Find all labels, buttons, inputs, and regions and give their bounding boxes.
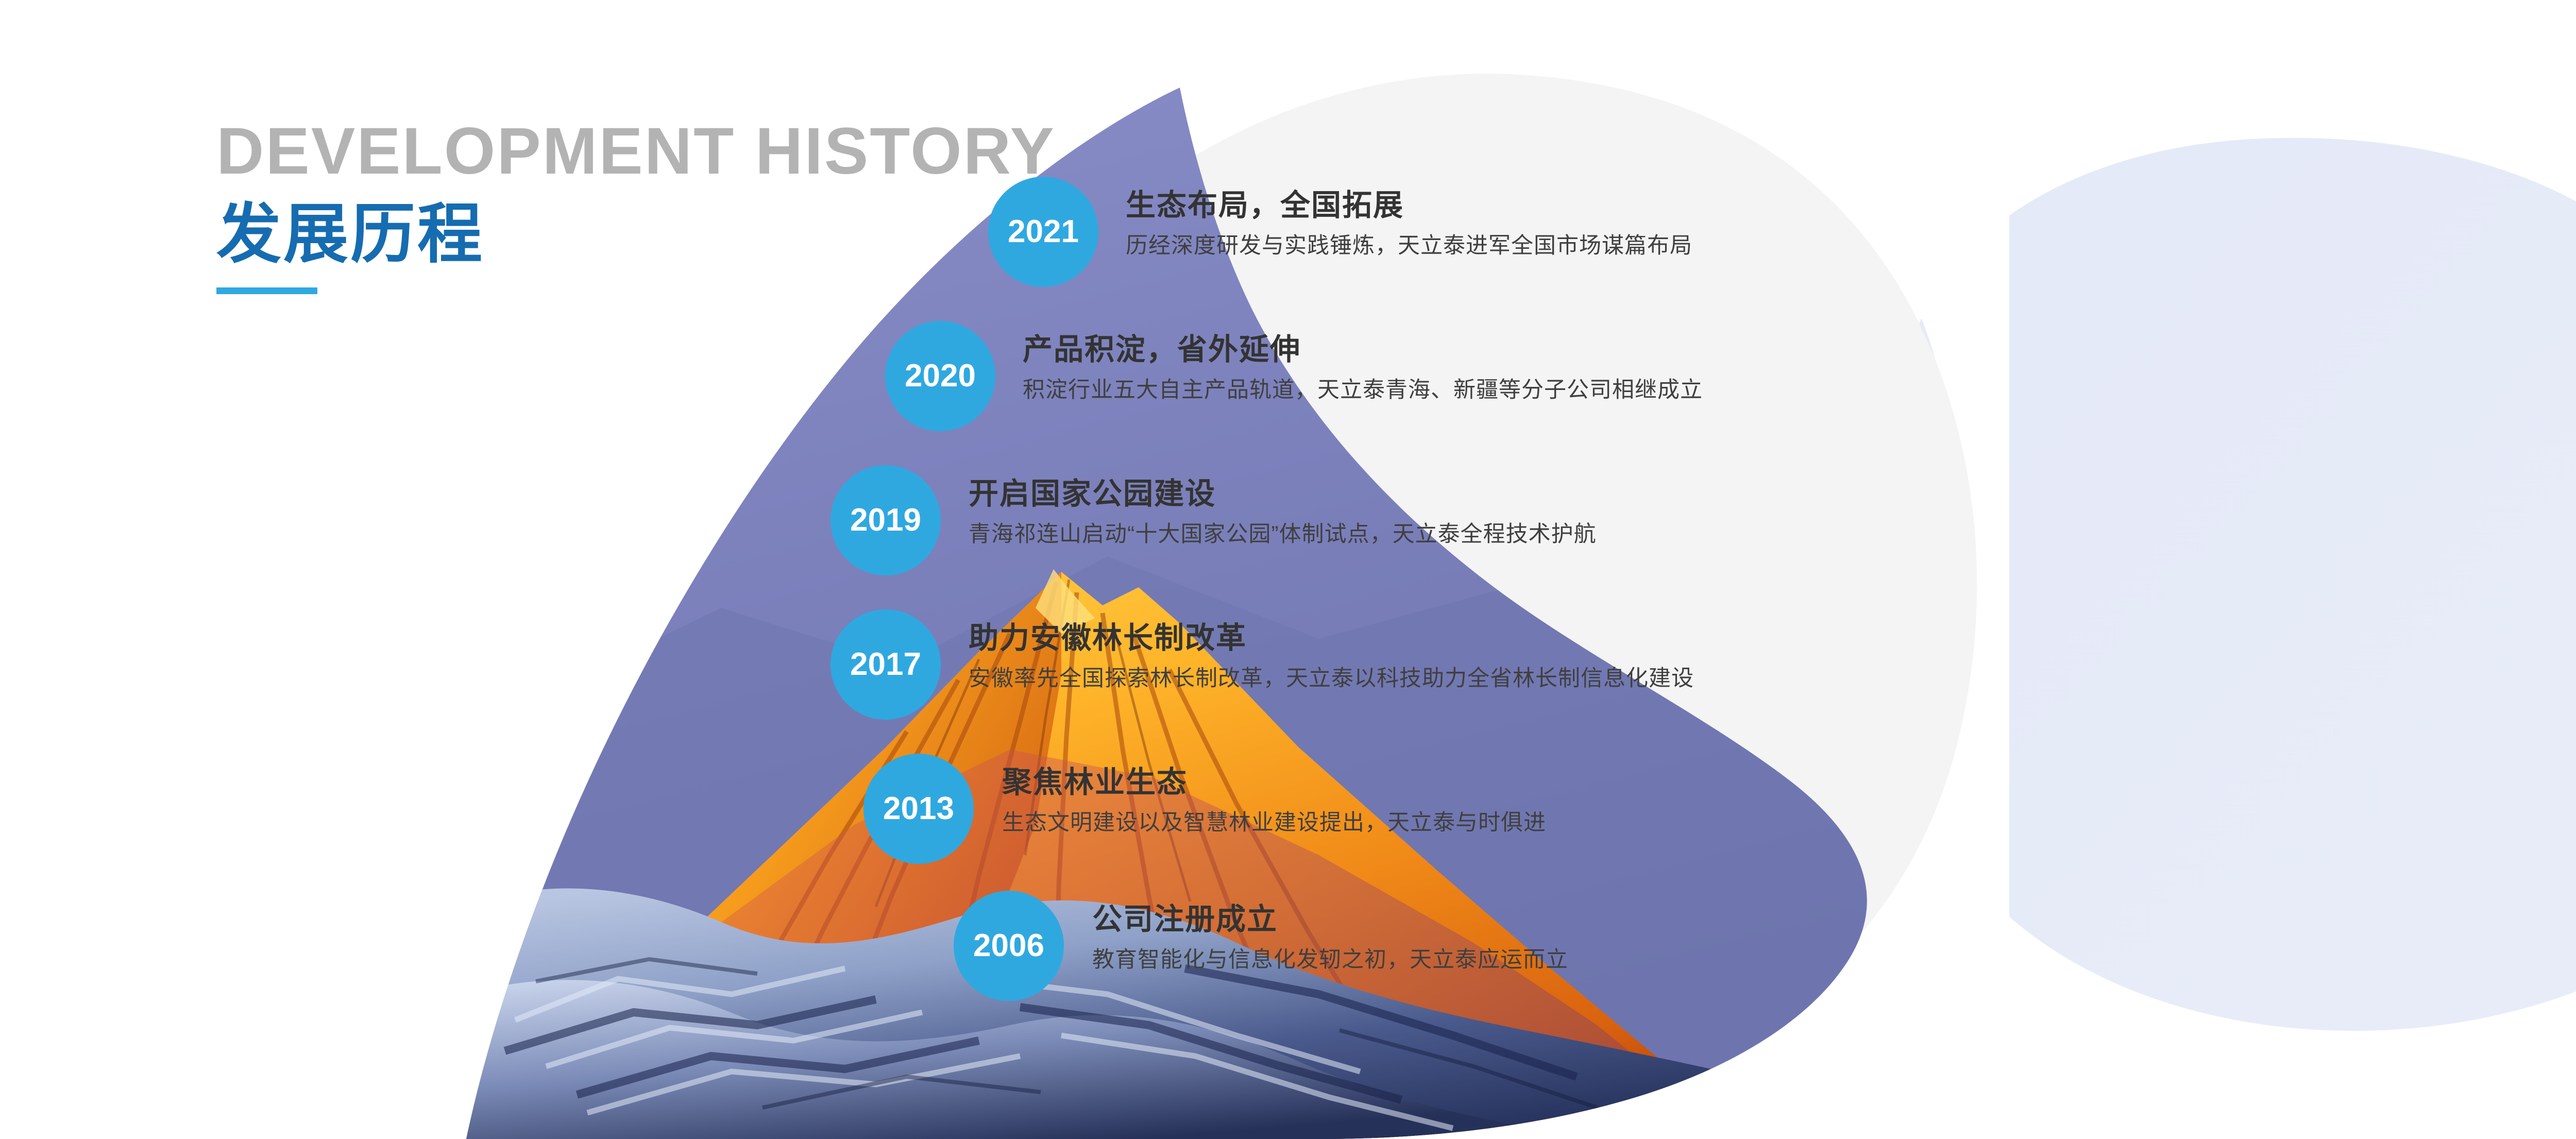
timeline-text-2019: 开启国家公园建设 青海祁连山启动“十大国家公园”体制试点，天立泰全程技术护航 xyxy=(969,479,1597,546)
timeline-text-2017: 助力安徽林长制改革 安徽率先全国探索林长制改革，天立泰以科技助力全省林长制信息化… xyxy=(969,623,1694,690)
slogan-block: 立天地诺泰山 共赢科技未来 xyxy=(2089,270,2576,814)
timeline-desc: 历经深度研发与实践锤炼，天立泰进军全国市场谋篇布局 xyxy=(1126,235,1692,257)
timeline-desc: 教育智能化与信息化发轫之初，天立泰应运而立 xyxy=(1092,949,1568,971)
timeline-title: 助力安徽林长制改革 xyxy=(969,623,1694,653)
year-badge-2006[interactable]: 2006 xyxy=(954,891,1064,1001)
timeline-desc: 青海祁连山启动“十大国家公园”体制试点，天立泰全程技术护航 xyxy=(969,523,1597,546)
year-badge-2017[interactable]: 2017 xyxy=(831,609,941,720)
timeline-desc: 积淀行业五大自主产品轨道，天立泰青海、新疆等分子公司相继成立 xyxy=(1023,379,1703,401)
timeline-desc: 生态文明建设以及智慧林业建设提出，天立泰与时俱进 xyxy=(1002,812,1546,834)
timeline-title: 公司注册成立 xyxy=(1092,905,1568,934)
timeline-text-2020: 产品积淀，省外延伸 积淀行业五大自主产品轨道，天立泰青海、新疆等分子公司相继成立 xyxy=(1023,335,1703,401)
year-badge-2013[interactable]: 2013 xyxy=(863,754,974,864)
year-badge-2021[interactable]: 2021 xyxy=(988,177,1098,287)
timeline-desc: 安徽率先全国探索林长制改革，天立泰以科技助力全省林长制信息化建设 xyxy=(969,668,1694,690)
timeline-text-2006: 公司注册成立 教育智能化与信息化发轫之初，天立泰应运而立 xyxy=(1092,905,1568,971)
year-badge-2019[interactable]: 2019 xyxy=(831,465,941,575)
slide-canvas: DEVELOPMENT HISTORY 发展历程 2021 生态布局，全国拓展 … xyxy=(0,0,2576,1139)
timeline-title: 产品积淀，省外延伸 xyxy=(1023,335,1703,365)
timeline-title: 聚焦林业生态 xyxy=(1002,768,1546,797)
timeline-text-2021: 生态布局，全国拓展 历经深度研发与实践锤炼，天立泰进军全国市场谋篇布局 xyxy=(1126,191,1692,257)
timeline-title: 生态布局，全国拓展 xyxy=(1126,191,1692,220)
year-badge-2020[interactable]: 2020 xyxy=(885,321,995,431)
timeline-text-2013: 聚焦林业生态 生态文明建设以及智慧林业建设提出，天立泰与时俱进 xyxy=(1002,768,1546,834)
timeline-title: 开启国家公园建设 xyxy=(969,479,1597,509)
